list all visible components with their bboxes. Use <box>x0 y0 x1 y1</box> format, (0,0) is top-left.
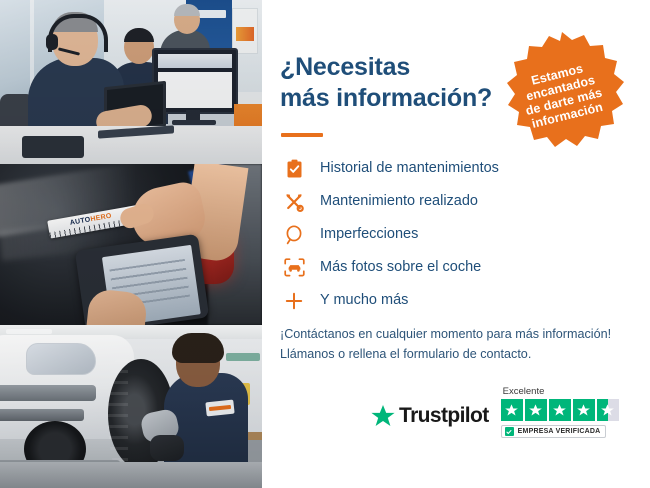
tire-tread <box>108 359 128 469</box>
feature-label: Imperfecciones <box>320 227 418 242</box>
mechanic-hair <box>172 333 224 363</box>
star-half <box>597 399 619 421</box>
page-title: ¿Necesitas más información? <box>280 52 512 113</box>
mechanic-glove-secondary <box>150 435 184 461</box>
wall-poster <box>232 8 258 54</box>
rating-label: Excelente <box>503 386 545 397</box>
tools-cross-icon <box>280 192 308 212</box>
feature-label: Mantenimiento realizado <box>320 194 478 209</box>
plus-icon <box>280 292 308 310</box>
verified-badge: EMPRESA VERIFICADA <box>501 425 607 438</box>
headset-earcup <box>46 34 58 50</box>
contact-badge: Estamos encantados de darte más informac… <box>494 26 630 162</box>
trustpilot-brand-text: Trustpilot <box>399 404 489 428</box>
star-filled <box>501 399 523 421</box>
ceiling-light <box>6 329 52 334</box>
desk-tablet <box>22 136 84 158</box>
feature-item-maintenance-history: Historial de mantenimientos <box>280 152 620 185</box>
magnifier-icon <box>280 225 308 245</box>
page-title-line2: más información? <box>280 83 512 114</box>
car-grille-upper <box>0 385 96 401</box>
star-rating <box>501 399 619 421</box>
trustpilot-logo[interactable]: Trustpilot <box>370 404 489 429</box>
workshop-floor <box>0 462 262 488</box>
star-filled <box>549 399 571 421</box>
content-panel: ¿Necesitas más información? Estamos <box>262 0 650 488</box>
clipboard-check-icon <box>280 159 308 179</box>
feature-label: Historial de mantenimientos <box>320 161 499 176</box>
feature-item-much-more: Y mucho más <box>280 284 620 317</box>
car-photo-frame-icon <box>280 258 308 277</box>
page-title-line1: ¿Necesitas <box>280 52 512 83</box>
photo-strip: AUTOHERO <box>0 0 262 488</box>
feature-item-imperfections: Imperfecciones <box>280 218 620 251</box>
verified-check-icon <box>505 427 514 436</box>
badge-text: Estamos encantados de darte más informac… <box>505 55 620 135</box>
photo-call-center <box>0 0 262 164</box>
trustpilot-widget[interactable]: Trustpilot Excelente <box>370 386 619 438</box>
title-divider <box>281 133 323 137</box>
car-headlight <box>26 343 96 375</box>
wall-shelf <box>226 353 260 361</box>
promo-card: AUTOHERO <box>0 0 650 488</box>
uniform-logo <box>205 400 234 417</box>
feature-label: Más fotos sobre el coche <box>320 260 481 275</box>
feature-list: Historial de mantenimientos Mantenimient… <box>280 152 620 317</box>
photo-car-inspection: AUTOHERO <box>0 164 262 325</box>
feature-label: Y mucho más <box>320 293 408 308</box>
trustpilot-rating: Excelente <box>501 386 619 438</box>
contact-copy: ¡Contáctanos en cualquier momento para m… <box>280 325 636 364</box>
photo-wheel-check <box>0 325 262 488</box>
contact-copy-line1: ¡Contáctanos en cualquier momento para m… <box>280 325 636 345</box>
feature-item-maintenance-done: Mantenimiento realizado <box>280 185 620 218</box>
car-grille-lower <box>0 409 84 421</box>
trustpilot-star-icon <box>370 404 396 429</box>
contact-copy-line2: Llámanos o rellena el formulario de cont… <box>280 345 636 365</box>
star-filled <box>573 399 595 421</box>
verified-label: EMPRESA VERIFICADA <box>518 428 601 435</box>
feature-item-more-photos: Más fotos sobre el coche <box>280 251 620 284</box>
star-filled <box>525 399 547 421</box>
monitor-base <box>172 120 216 125</box>
